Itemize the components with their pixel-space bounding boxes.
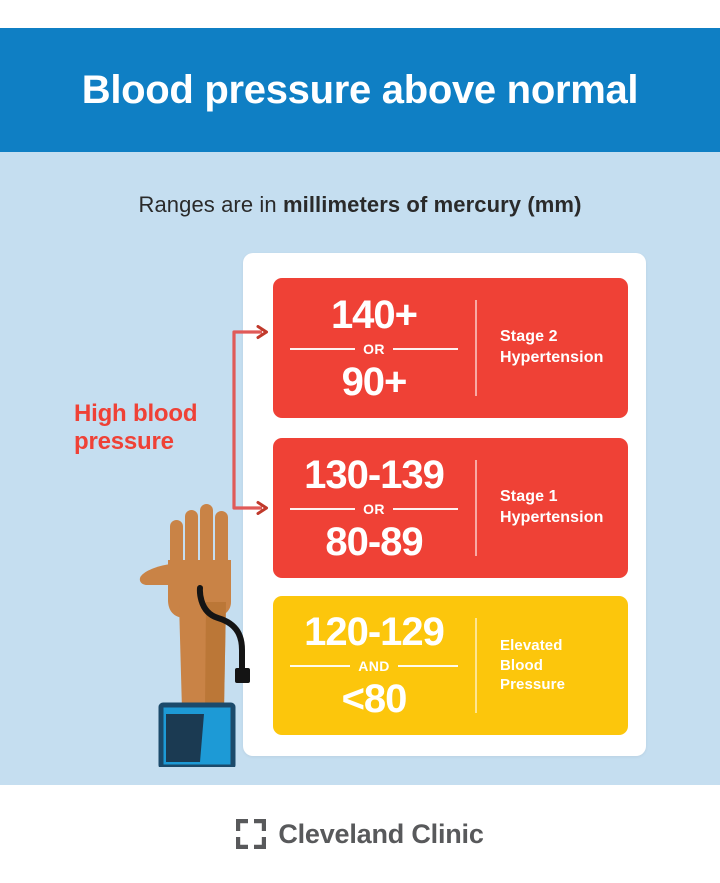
bp-range-card-elevated: 120-129 AND <80 Elevated Blood Pressure [273, 596, 628, 735]
systolic-value: 140+ [331, 295, 417, 335]
card-category-label: Elevated Blood Pressure [477, 596, 628, 735]
diastolic-value: <80 [342, 679, 407, 719]
conjunction-rule-left [290, 508, 355, 510]
card-category-label: Stage 2 Hypertension [477, 278, 628, 418]
conjunction-label: AND [350, 658, 398, 674]
units-subtitle-emphasis: millimeters of mercury (mm) [283, 192, 582, 217]
card-category-text: Stage 1 Hypertension [500, 487, 603, 529]
card-category-text: Elevated Blood Pressure [500, 636, 565, 695]
diastolic-value: 80-89 [325, 522, 422, 562]
conjunction-label: OR [355, 501, 393, 517]
systolic-value: 120-129 [304, 612, 444, 652]
cleveland-clinic-logo-icon [236, 819, 266, 849]
tube-connector [235, 668, 250, 683]
high-blood-pressure-label: High blood pressure [74, 400, 234, 457]
conjunction-label: OR [355, 341, 393, 357]
conjunction-rule-right [398, 665, 458, 667]
units-subtitle-prefix: Ranges are in [138, 192, 283, 217]
bp-cuff-shadow [166, 714, 204, 762]
bp-values-group: 120-129 AND <80 [273, 596, 475, 735]
page-title: Blood pressure above normal [82, 68, 639, 112]
card-category-text: Stage 2 Hypertension [500, 327, 603, 369]
conjunction-rule-right [393, 508, 458, 510]
header-banner: Blood pressure above normal [0, 28, 720, 152]
bp-range-card-stage-1: 130-139 OR 80-89 Stage 1 Hypertension [273, 438, 628, 578]
conjunction-rule-left [290, 348, 355, 350]
bp-range-card-stage-2: 140+ OR 90+ Stage 2 Hypertension [273, 278, 628, 418]
bp-values-group: 130-139 OR 80-89 [273, 438, 475, 578]
arm-with-cuff-illustration [138, 492, 288, 767]
footer-brand-bar: Cleveland Clinic [0, 785, 720, 883]
value-conjunction-row: OR [290, 501, 458, 517]
value-conjunction-row: AND [290, 658, 458, 674]
conjunction-rule-left [290, 665, 350, 667]
brand-name: Cleveland Clinic [278, 819, 483, 850]
bp-values-group: 140+ OR 90+ [273, 278, 475, 418]
units-subtitle: Ranges are in millimeters of mercury (mm… [0, 192, 720, 218]
card-category-label: Stage 1 Hypertension [477, 438, 628, 578]
bracket-arrow-icon [224, 325, 272, 515]
systolic-value: 130-139 [304, 455, 444, 495]
value-conjunction-row: OR [290, 341, 458, 357]
diastolic-value: 90+ [342, 362, 407, 402]
conjunction-rule-right [393, 348, 458, 350]
top-white-strip [0, 0, 720, 28]
